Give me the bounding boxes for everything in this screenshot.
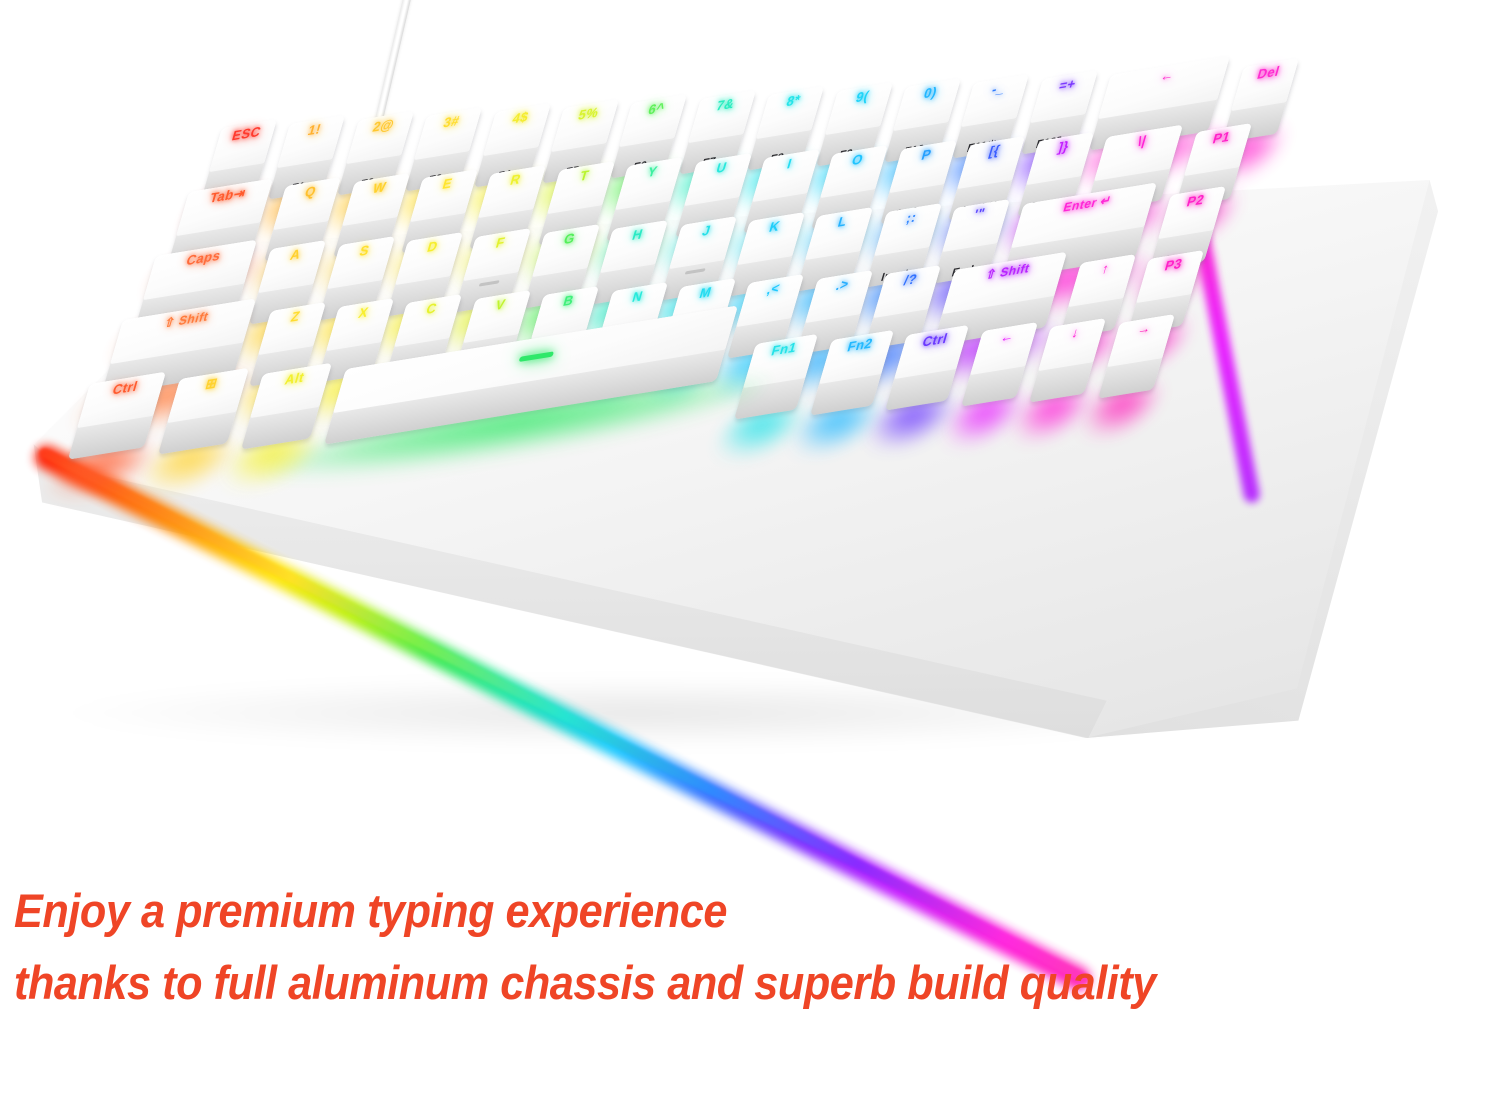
keycap-top	[962, 74, 1030, 127]
keycap-top	[346, 111, 414, 164]
keycap-top	[77, 372, 166, 428]
key-ctrl[interactable]: Ctrl	[68, 372, 166, 460]
caption-line-2: thanks to full aluminum chassis and supe…	[14, 952, 1376, 1014]
marketing-caption: Enjoy a premium typing experience thanks…	[14, 880, 1376, 1014]
keycap-top	[1158, 186, 1226, 239]
keycap-top	[688, 90, 756, 143]
keycap-top	[551, 99, 619, 152]
keycap-top	[1107, 314, 1175, 367]
keycap-top	[414, 107, 482, 160]
keycap-top	[278, 115, 346, 168]
keycap-top	[1030, 70, 1098, 123]
product-image-canvas: ESC~1!F12@F23#F34$F45%F56^F67&F78*F89(F9…	[0, 0, 1500, 1117]
keycap-top	[893, 78, 961, 131]
keycap-top	[1136, 250, 1204, 303]
keycap-top	[756, 86, 824, 139]
keycap-top	[209, 119, 277, 172]
keycap-top	[1038, 318, 1106, 371]
key-grid: ESC~1!F12@F23#F34$F45%F56^F67&F78*F89(F9…	[0, 0, 1500, 840]
caption-line-1: Enjoy a premium typing experience	[14, 880, 1376, 942]
keycap-top	[483, 103, 551, 156]
keycap-top	[620, 95, 688, 148]
key-[interactable]: ↓	[1029, 318, 1106, 402]
keyboard-illustration: ESC~1!F12@F23#F34$F45%F56^F67&F78*F89(F9…	[0, 0, 1500, 840]
keycap-top	[825, 82, 893, 135]
keycap-top	[1232, 58, 1300, 111]
